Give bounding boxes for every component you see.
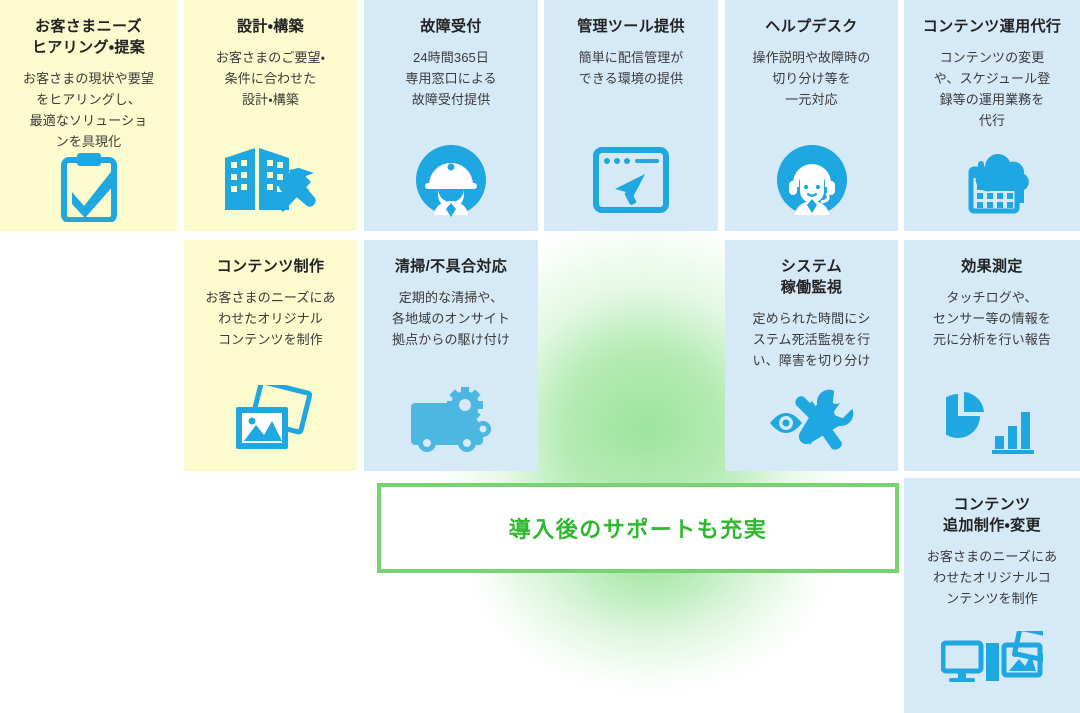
card-description: お客さまのご要望・ 条件に合わせた 設計・構築 (216, 47, 325, 110)
photos-icon (194, 383, 347, 457)
card-management-tool[interactable]: 管理ツール提供 簡単に配信管理が できる環境の提供 (544, 0, 718, 231)
card-title: コンテンツ制作 (217, 256, 325, 277)
card-description: お客さまのニーズにあ わせたオリジナル コンテンツを制作 (205, 287, 335, 350)
card-description: お客さまのニーズにあ わせたオリジナルコ ンテンツを制作 (927, 546, 1057, 609)
service-van-gear-icon (374, 383, 528, 457)
support-banner: 導入後のサポートも充実 (377, 483, 899, 573)
card-title: 清掃/不具合対応 (395, 256, 507, 277)
card-title: システム 稼働監視 (781, 256, 843, 298)
headset-agent-icon (735, 143, 888, 217)
infographic-canvas: お客さまニーズ ヒアリング・提案 お客さまの現状や要望 をヒアリングし、 最適な… (0, 0, 1080, 713)
card-content-addition[interactable]: コンテンツ 追加制作・変更 お客さまのニーズにあ わせたオリジナルコ ンテンツを… (904, 478, 1080, 713)
support-banner-text: 導入後のサポートも充実 (509, 512, 768, 544)
card-effect-measurement[interactable]: 効果測定 タッチログや、 センサー等の情報を 元に分析を行い報告 (904, 240, 1080, 471)
card-needs-hearing[interactable]: お客さまニーズ ヒアリング・提案 お客さまの現状や要望 をヒアリングし、 最適な… (0, 0, 177, 231)
card-help-desk[interactable]: ヘルプデスク 操作説明や故障時の 切り分け等を 一元対応 (725, 0, 898, 231)
card-title: 設計・構築 (237, 16, 304, 37)
card-description: タッチログや、 センサー等の情報を 元に分析を行い報告 (933, 287, 1051, 350)
card-description: 簡単に配信管理が できる環境の提供 (579, 47, 684, 89)
buildings-wrench-icon (194, 143, 347, 217)
card-title: ヘルプデスク (765, 16, 857, 37)
card-description: コンテンツの変更 や、スケジュール登 録等の運用業務を 代行 (934, 47, 1051, 131)
card-description: 定められた時間にシ ステム死活監視を行 い、障害を切り分け (753, 308, 871, 371)
card-title: コンテンツ 追加制作・変更 (943, 494, 1041, 536)
card-content-operation[interactable]: コンテンツ運用代行 コンテンツの変更 や、スケジュール登 録等の運用業務を 代行 (904, 0, 1080, 231)
card-content-production[interactable]: コンテンツ制作 お客さまのニーズにあ わせたオリジナル コンテンツを制作 (184, 240, 357, 471)
clipboard-check-icon (10, 152, 167, 222)
card-title: コンテンツ運用代行 (923, 16, 1062, 37)
card-title: 故障受付 (420, 16, 482, 37)
card-title: 管理ツール提供 (577, 16, 685, 37)
operator-helmet-icon (374, 143, 528, 217)
card-cleaning-fault[interactable]: 清掃/不具合対応 定期的な清掃や、 各地域のオンサイト 拠点からの駆け付け (364, 240, 538, 471)
pie-bar-chart-icon (914, 383, 1070, 457)
eye-wrench-screwdriver-icon (735, 383, 888, 457)
card-description: 24時間365日 専用窓口による 故障受付提供 (405, 47, 496, 110)
cloud-calendar-upload-icon (914, 143, 1070, 217)
card-description: お客さまの現状や要望 をヒアリングし、 最適なソリューショ ンを具現化 (23, 68, 154, 152)
card-description: 操作説明や故障時の 切り分け等を 一元対応 (753, 47, 871, 110)
monitor-photos-icon (914, 625, 1070, 699)
card-design-build[interactable]: 設計・構築 お客さまのご要望・ 条件に合わせた 設計・構築 (184, 0, 357, 231)
card-title: 効果測定 (961, 256, 1023, 277)
browser-cursor-icon (554, 143, 708, 217)
card-description: 定期的な清掃や、 各地域のオンサイト 拠点からの駆け付け (392, 287, 510, 350)
card-system-monitoring[interactable]: システム 稼働監視 定められた時間にシ ステム死活監視を行 い、障害を切り分け (725, 240, 898, 471)
card-fault-reception[interactable]: 故障受付 24時間365日 専用窓口による 故障受付提供 (364, 0, 538, 231)
card-title: お客さまニーズ ヒアリング・提案 (32, 16, 145, 58)
